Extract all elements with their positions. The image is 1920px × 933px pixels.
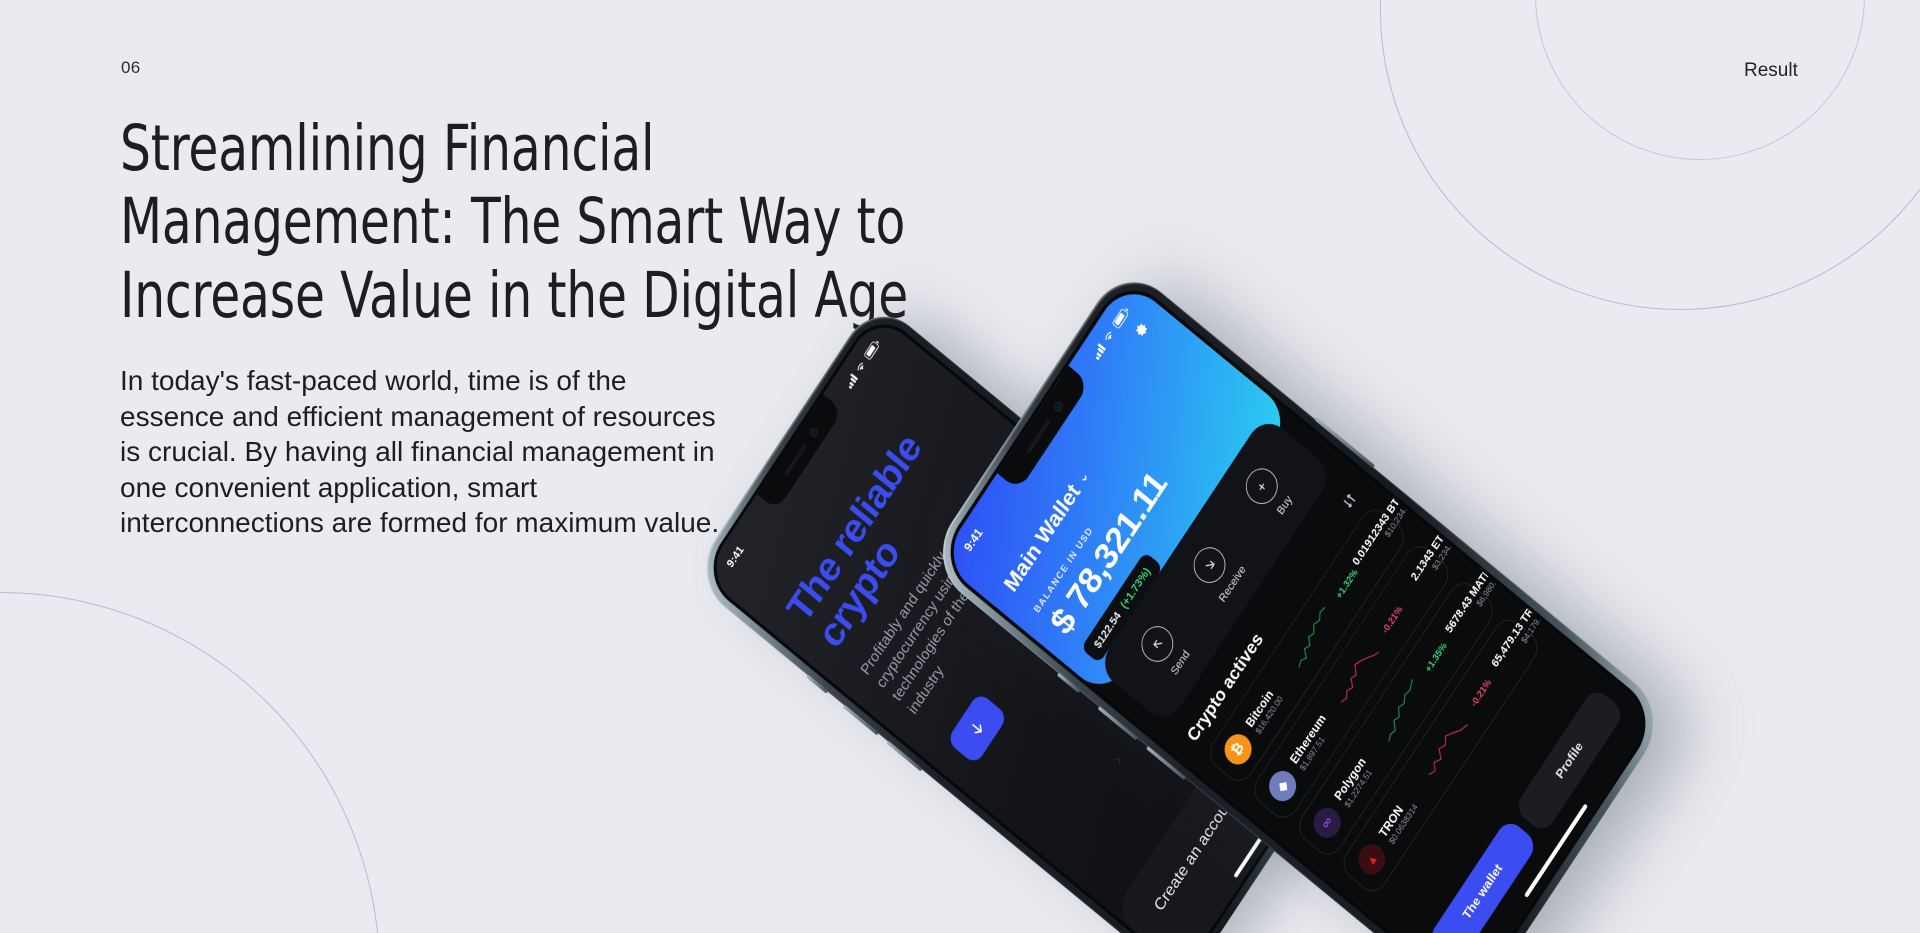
action-label: Send: [1168, 648, 1192, 678]
action-send[interactable]: Send: [1135, 619, 1194, 681]
body-paragraph: In today's fast-paced world, time is of …: [120, 363, 720, 541]
asset-change: -0.21%: [1376, 604, 1405, 642]
cellular-signal-icon: [1091, 343, 1106, 361]
bitcoin-icon: ₿: [1219, 728, 1257, 770]
chevron-decor-1: ›: [1106, 750, 1128, 771]
section-label: Result: [1744, 60, 1798, 82]
asset-change: -0.21%: [1465, 678, 1494, 716]
sparkline-chart: [1375, 678, 1427, 745]
action-receive[interactable]: Receive: [1186, 538, 1248, 605]
action-label: Buy: [1274, 493, 1294, 517]
decor-circle-top-right-small: [1535, 0, 1865, 160]
battery-icon: [1111, 308, 1128, 330]
sparkline-chart: [1420, 714, 1472, 781]
slide-canvas: 06 Result Streamlining Financial Managem…: [0, 0, 1920, 933]
decor-circle-bottom-left: [0, 592, 380, 933]
wifi-icon: [1101, 327, 1116, 345]
sparkline-chart: [1331, 641, 1383, 708]
phone-mockup-group: 9:41 The reliable crypto Profitably and …: [860, 232, 1920, 702]
battery-icon: [863, 340, 879, 360]
asset-meta: Ethereum $1,897.51: [1287, 702, 1342, 773]
asset-meta: Polygon $1.2274.51: [1332, 738, 1387, 809]
asset-change: +1.35%: [1421, 641, 1450, 679]
wifi-icon: [853, 358, 867, 374]
action-buy[interactable]: Buy: [1239, 462, 1298, 524]
gear-icon[interactable]: [1130, 318, 1152, 343]
ethereum-icon: ◆: [1264, 765, 1302, 807]
asset-change: +1.32%: [1332, 568, 1361, 606]
page-number: 06: [121, 58, 141, 78]
asset-meta: TRON $0.0638314: [1376, 775, 1431, 846]
page-title: Streamlining Financial Management: The S…: [120, 112, 989, 332]
polygon-icon: ∞: [1308, 802, 1346, 844]
sort-icon[interactable]: [1339, 490, 1359, 512]
onboarding-next-button[interactable]: [946, 692, 1008, 766]
arrow-down-icon: [966, 716, 989, 741]
chevron-down-icon: ⌄: [1074, 468, 1091, 486]
cellular-signal-icon: [844, 373, 858, 389]
tron-icon: ▲: [1353, 838, 1391, 880]
